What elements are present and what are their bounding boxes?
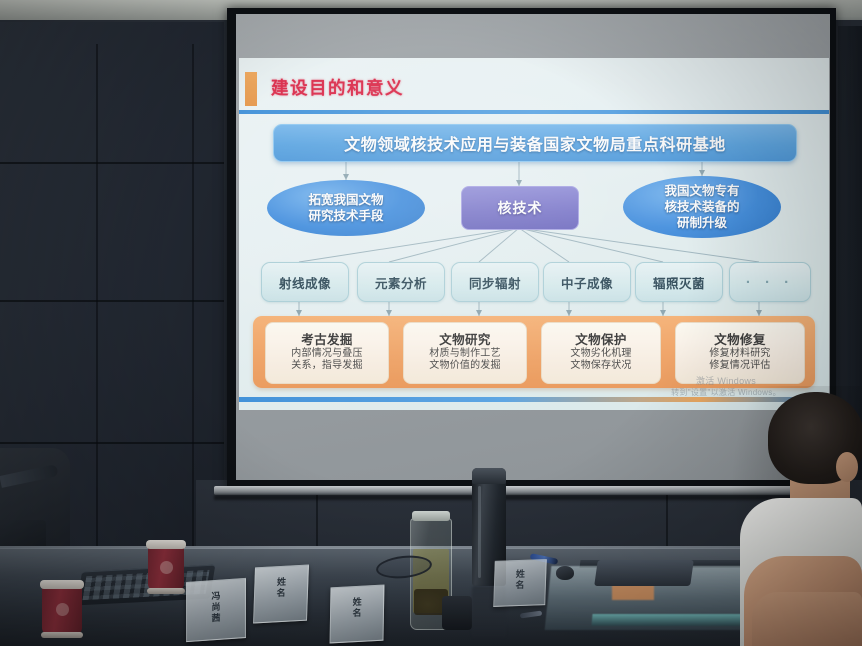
name-plate-text: 姓名 (350, 596, 363, 619)
cup-rim (146, 540, 186, 549)
name-plate-text: 姓名 (274, 576, 288, 599)
goal-right-line1: 我国文物专有 (664, 183, 739, 199)
goal-right-line3: 研制升级 (664, 215, 739, 231)
goal-right-line2: 核技术装备的 (664, 199, 739, 215)
application-card: 考古发掘 内部情况与叠压 关系，指导发掘 (265, 322, 389, 384)
application-title: 文物研究 (439, 333, 491, 347)
cup-logo (56, 603, 69, 616)
slide-title-bar: 建设目的和意义 (245, 72, 785, 106)
name-plate-text: 冯尚茜 (210, 591, 223, 625)
cup-base (147, 588, 185, 594)
paper-cup (42, 586, 82, 634)
cup-rim (40, 580, 84, 589)
wall-seam (0, 442, 224, 444)
goal-left-line2: 研究技术手段 (308, 208, 383, 224)
technique-chip: 射线成像 (261, 262, 349, 302)
application-line: 文物价值的发掘 (429, 360, 500, 373)
person-ear (836, 452, 858, 482)
application-line: 材质与制作工艺 (429, 348, 500, 361)
thermos-highlight (478, 486, 481, 578)
application-line: 修复情况评估 (709, 360, 770, 373)
application-card: 文物研究 材质与制作工艺 文物价值的发掘 (403, 322, 527, 384)
application-card: 文物修复 修复材料研究 修复情况评估 (675, 322, 805, 384)
title-accent-bar (245, 72, 257, 106)
projected-slide: 建设目的和意义 (239, 58, 829, 410)
conference-room-photo: 建设目的和意义 (0, 0, 862, 646)
technique-chip: 中子成像 (543, 262, 631, 302)
thermos-lid (472, 468, 506, 484)
name-plate-text: 姓名 (513, 569, 527, 591)
cup-base (41, 632, 83, 638)
wall-seam (0, 300, 224, 302)
desk-device (594, 560, 694, 586)
paper-cup (148, 546, 184, 590)
diagram-center-node: 核技术 (461, 186, 579, 230)
cup-logo (160, 561, 173, 574)
person-forearm (752, 592, 862, 646)
application-title: 考古发掘 (301, 333, 353, 347)
wall-seam (0, 162, 224, 164)
technique-chip: 辐照灭菌 (635, 262, 723, 302)
name-plate: 姓名 (493, 559, 547, 607)
technique-chip-row: 射线成像 元素分析 同步辐射 中子成像 辐照灭菌 · · · (253, 262, 815, 300)
diagram-goal-left: 拓宽我国文物 研究技术手段 (267, 180, 425, 236)
name-plate: 姓名 (253, 564, 309, 623)
application-line: 修复材料研究 (709, 348, 770, 361)
diagram-goal-right: 我国文物专有 核技术装备的 研制升级 (623, 176, 781, 238)
application-line: 内部情况与叠压 (291, 348, 362, 361)
slide-title: 建设目的和意义 (271, 75, 404, 100)
name-plate: 冯尚茜 (186, 578, 246, 642)
application-line: 文物劣化机理 (570, 348, 631, 361)
technique-chip: 元素分析 (357, 262, 445, 302)
jar-lid (412, 511, 450, 521)
application-line: 关系，指导发掘 (291, 360, 362, 373)
application-card: 文物保护 文物劣化机理 文物保存状况 (541, 322, 661, 384)
diagram-root-node: 文物领域核技术应用与装备国家文物局重点科研基地 (273, 124, 797, 162)
technique-chip-ellipsis: · · · (729, 262, 811, 302)
name-plate: 姓名 (330, 585, 385, 644)
application-title: 文物修复 (714, 333, 766, 347)
computer-mouse[interactable] (556, 566, 574, 580)
application-line: 文物保存状况 (570, 360, 631, 373)
title-divider (239, 110, 829, 114)
goal-left-line1: 拓宽我国文物 (308, 192, 383, 208)
jar-cap (442, 596, 472, 630)
technique-chip: 同步辐射 (451, 262, 539, 302)
application-title: 文物保护 (575, 333, 627, 347)
